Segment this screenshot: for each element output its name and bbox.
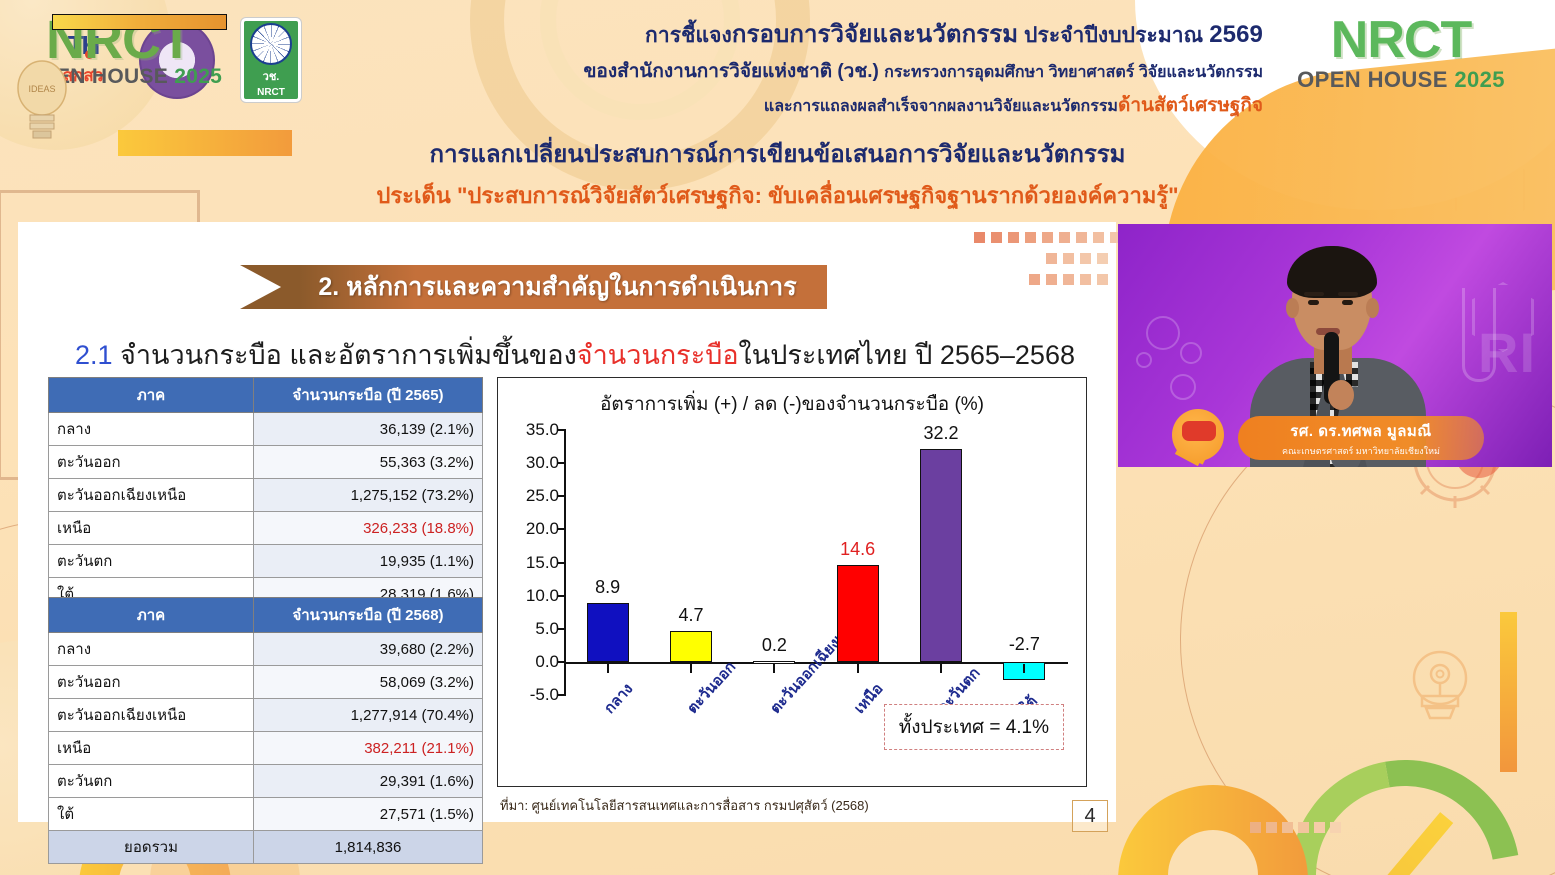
speaker-hair <box>1287 246 1377 298</box>
speaker-video-panel[interactable]: RI <box>1118 224 1552 467</box>
chart-y-tick-label: 35.0 <box>526 420 559 440</box>
chart-y-tick-label: 0.0 <box>535 652 559 672</box>
cell-region: ตะวันตก <box>49 765 254 798</box>
bg-dots-bottom-right <box>1250 822 1341 833</box>
speaker-name-banner: รศ. ดร.ทศพล มูลมณี คณะเกษตรศาสตร์ มหาวิท… <box>1238 416 1484 460</box>
section-title-bar: 2. หลักการและความสำคัญในการดำเนินการ <box>240 265 827 309</box>
table-row: กลาง39,680 (2.2%) <box>49 633 483 666</box>
speaker-name: รศ. ดร.ทศพล มูลมณี <box>1290 419 1431 443</box>
chart-bar-value-label: 14.6 <box>840 539 875 560</box>
table-row: ตะวันออก55,363 (3.2%) <box>49 446 483 479</box>
header-line-2: ของสำนักงานการวิจัยแห่งชาติ (วช.) กระทรว… <box>583 56 1263 86</box>
subtitle-line-1: การแลกเปลี่ยนประสบการณ์การเขียนข้อเสนอกา… <box>0 134 1555 173</box>
nrct-open-house-logo: NRCT OPEN HOUSE 2025 <box>1275 16 1527 93</box>
table-row: ตะวันตก19,935 (1.1%) <box>49 545 483 578</box>
cell-value: 39,680 (2.2%) <box>254 633 483 666</box>
video-deco-circle3 <box>1136 352 1152 368</box>
cell-value: 1,275,152 (73.2%) <box>254 479 483 512</box>
chart-y-tick-mark <box>558 495 566 497</box>
table-row: ตะวันออกเฉียงเหนือ1,277,914 (70.4%) <box>49 699 483 732</box>
speaker-eye-left <box>1308 300 1319 305</box>
bg-arc-orange <box>1118 785 1308 875</box>
cell-region: เหนือ <box>49 732 254 765</box>
nrct-wordmark: NRCT <box>1275 16 1527 65</box>
cell-value: 1,277,914 (70.4%) <box>254 699 483 732</box>
slide-lightbulb-icon: IDEAS <box>14 58 70 142</box>
nrct-th-label: วช. <box>263 67 280 85</box>
bg-bar-right <box>1500 612 1517 772</box>
chart-y-tick-mark <box>558 462 566 464</box>
event-subtitle: การแลกเปลี่ยนประสบการณ์การเขียนข้อเสนอกา… <box>0 134 1555 213</box>
table-row: ใต้27,571 (1.5%) <box>49 798 483 831</box>
cell-value: 36,139 (2.1%) <box>254 413 483 446</box>
slide-logo-openhouse: EN HOUSE 2025 <box>56 65 240 89</box>
table-row: ตะวันออกเฉียงเหนือ1,275,152 (73.2%) <box>49 479 483 512</box>
chart-source-note: ที่มา: ศูนย์เทคโนโลยีสารสนเทศและการสื่อส… <box>500 795 869 816</box>
slide-logo-bar <box>52 14 227 30</box>
table-row: ตะวันตก29,391 (1.6%) <box>49 765 483 798</box>
chart-y-tick-mark <box>558 562 566 564</box>
table-total-row: ยอดรวม1,814,836 <box>49 831 483 864</box>
chart-plot-area: 35.030.025.020.015.010.05.00.0-5.08.9กลา… <box>566 430 1066 695</box>
table-header-row: ภาค จำนวนกระบือ (ปี 2568) <box>49 598 483 633</box>
speaker-hand <box>1328 380 1354 410</box>
cell-region: เหนือ <box>49 512 254 545</box>
cell-value: 382,211 (21.1%) <box>254 732 483 765</box>
cell-region: ตะวันออก <box>49 666 254 699</box>
chart-y-tick-mark <box>558 595 566 597</box>
table-row: กลาง36,139 (2.1%) <box>49 413 483 446</box>
chart-x-tick-mark <box>940 664 942 673</box>
cell-value: 19,935 (1.1%) <box>254 545 483 578</box>
chart-x-tick-label: กลาง <box>598 678 639 719</box>
slide-screenshot: ΤΗ สกสว วช. NRCT การชี้แจงกรอบการวิจัยแล… <box>0 0 1555 875</box>
slide-heading: 2.1 จำนวนกระบือ และอัตราการเพิ่มขึ้นของจ… <box>75 333 1075 376</box>
cell-region: กลาง <box>49 633 254 666</box>
chart-bar <box>587 603 629 662</box>
table-row: เหนือ326,233 (18.8%) <box>49 512 483 545</box>
col-region: ภาค <box>49 378 254 413</box>
bg-bar-diag <box>1344 812 1453 875</box>
subtitle-line-2: ประเด็น "ประสบการณ์วิจัยสัตว์เศรษฐกิจ: ข… <box>0 178 1555 213</box>
chart-bar-value-label: -2.7 <box>1009 634 1040 655</box>
speaker-affiliation: คณะเกษตรศาสตร์ มหาวิทยาลัยเชียงใหม่ <box>1282 444 1440 458</box>
chart-y-tick-label: 10.0 <box>526 586 559 606</box>
video-watermark: RI <box>1478 320 1536 385</box>
col-region: ภาค <box>49 598 254 633</box>
nrct-wheel-icon <box>250 23 292 65</box>
bg-arc-green <box>1245 715 1555 875</box>
speaker-eye-right <box>1342 300 1353 305</box>
cell-value: 326,233 (18.8%) <box>254 512 483 545</box>
video-deco-circle4 <box>1170 374 1196 400</box>
bg-lightbulb-gear-icon <box>1400 640 1480 736</box>
speaker-ear-right <box>1366 298 1379 318</box>
cell-value: 55,363 (3.2%) <box>254 446 483 479</box>
buffalo-emblem-icon <box>1164 407 1240 465</box>
chart-bar-value-label: 0.2 <box>762 635 787 656</box>
cell-region: ตะวันออกเฉียงเหนือ <box>49 479 254 512</box>
cell-region: ใต้ <box>49 798 254 831</box>
cell-region: กลาง <box>49 413 254 446</box>
chart-annotation-box: ทั้งประเทศ = 4.1% <box>884 704 1064 750</box>
chart-bar <box>670 631 712 662</box>
table-row: เหนือ382,211 (21.1%) <box>49 732 483 765</box>
chart-bar <box>920 449 962 662</box>
chart-y-tick-mark <box>558 429 566 431</box>
page-number-badge: 4 <box>1072 800 1108 832</box>
open-house-wordmark: OPEN HOUSE 2025 <box>1275 67 1527 93</box>
chart-bar-value-label: 4.7 <box>678 605 703 626</box>
cell-region: ตะวันออก <box>49 446 254 479</box>
video-deco-circle2 <box>1180 342 1202 364</box>
video-deco-circle1 <box>1146 316 1180 350</box>
col-count: จำนวนกระบือ (ปี 2565) <box>254 378 483 413</box>
chart-bar <box>837 565 879 662</box>
chart-y-tick-label: 25.0 <box>526 486 559 506</box>
chart-title: อัตราการเพิ่ม (+) / ลด (-)ของจำนวนกระบือ… <box>498 389 1086 419</box>
speaker-ear-left <box>1286 298 1299 318</box>
table-row: ตะวันออก58,069 (3.2%) <box>49 666 483 699</box>
chart-bar-value-label: 8.9 <box>595 577 620 598</box>
chart-bar-value-label: 32.2 <box>923 423 958 444</box>
table-buffalo-2568: ภาค จำนวนกระบือ (ปี 2568) กลาง39,680 (2.… <box>48 597 483 864</box>
speaker-brow-left <box>1304 292 1324 296</box>
cell-region: ตะวันออกเฉียงเหนือ <box>49 699 254 732</box>
cell-value: 29,391 (1.6%) <box>254 765 483 798</box>
cell-value: 58,069 (3.2%) <box>254 666 483 699</box>
cell-total-value: 1,814,836 <box>254 831 483 864</box>
chart-y-tick-label: 20.0 <box>526 519 559 539</box>
chart-x-tick-label: เหนือ <box>848 678 889 720</box>
chart-x-tick-mark <box>773 664 775 673</box>
chart-y-tick-mark <box>558 528 566 530</box>
cell-region: ตะวันตก <box>49 545 254 578</box>
header-line-1: การชี้แจงกรอบการวิจัยและนวัตกรรม ประจำปี… <box>583 14 1263 53</box>
nrct-en-label: NRCT <box>257 87 285 98</box>
cell-total-label: ยอดรวม <box>49 831 254 864</box>
col-count: จำนวนกระบือ (ปี 2568) <box>254 598 483 633</box>
svg-text:IDEAS: IDEAS <box>28 84 55 94</box>
chart-x-tick-mark <box>1023 664 1025 673</box>
chart-y-tick-label: 5.0 <box>535 619 559 639</box>
header-title-block: การชี้แจงกรอบการวิจัยและนวัตกรรม ประจำปี… <box>583 14 1263 120</box>
logo-nrct-badge: วช. NRCT <box>233 18 309 102</box>
speaker-brow-right <box>1338 292 1358 296</box>
chart-x-tick-mark <box>607 664 609 673</box>
buffalo-body <box>1182 421 1216 441</box>
chart-y-tick-label: -5.0 <box>530 685 559 705</box>
chart-y-tick-mark <box>558 694 566 696</box>
bar-chart-panel: อัตราการเพิ่ม (+) / ลด (-)ของจำนวนกระบือ… <box>497 377 1087 787</box>
chart-x-tick-mark <box>690 664 692 673</box>
chart-x-tick-mark <box>857 664 859 673</box>
cell-value: 27,571 (1.5%) <box>254 798 483 831</box>
header-line-3: และการแถลงผลสำเร็จจากผลงานวิจัยและนวัตกร… <box>583 90 1263 120</box>
chart-y-tick-mark <box>558 628 566 630</box>
chart-y-tick-label: 15.0 <box>526 553 559 573</box>
table-header-row: ภาค จำนวนกระบือ (ปี 2565) <box>49 378 483 413</box>
chart-y-tick-label: 30.0 <box>526 453 559 473</box>
